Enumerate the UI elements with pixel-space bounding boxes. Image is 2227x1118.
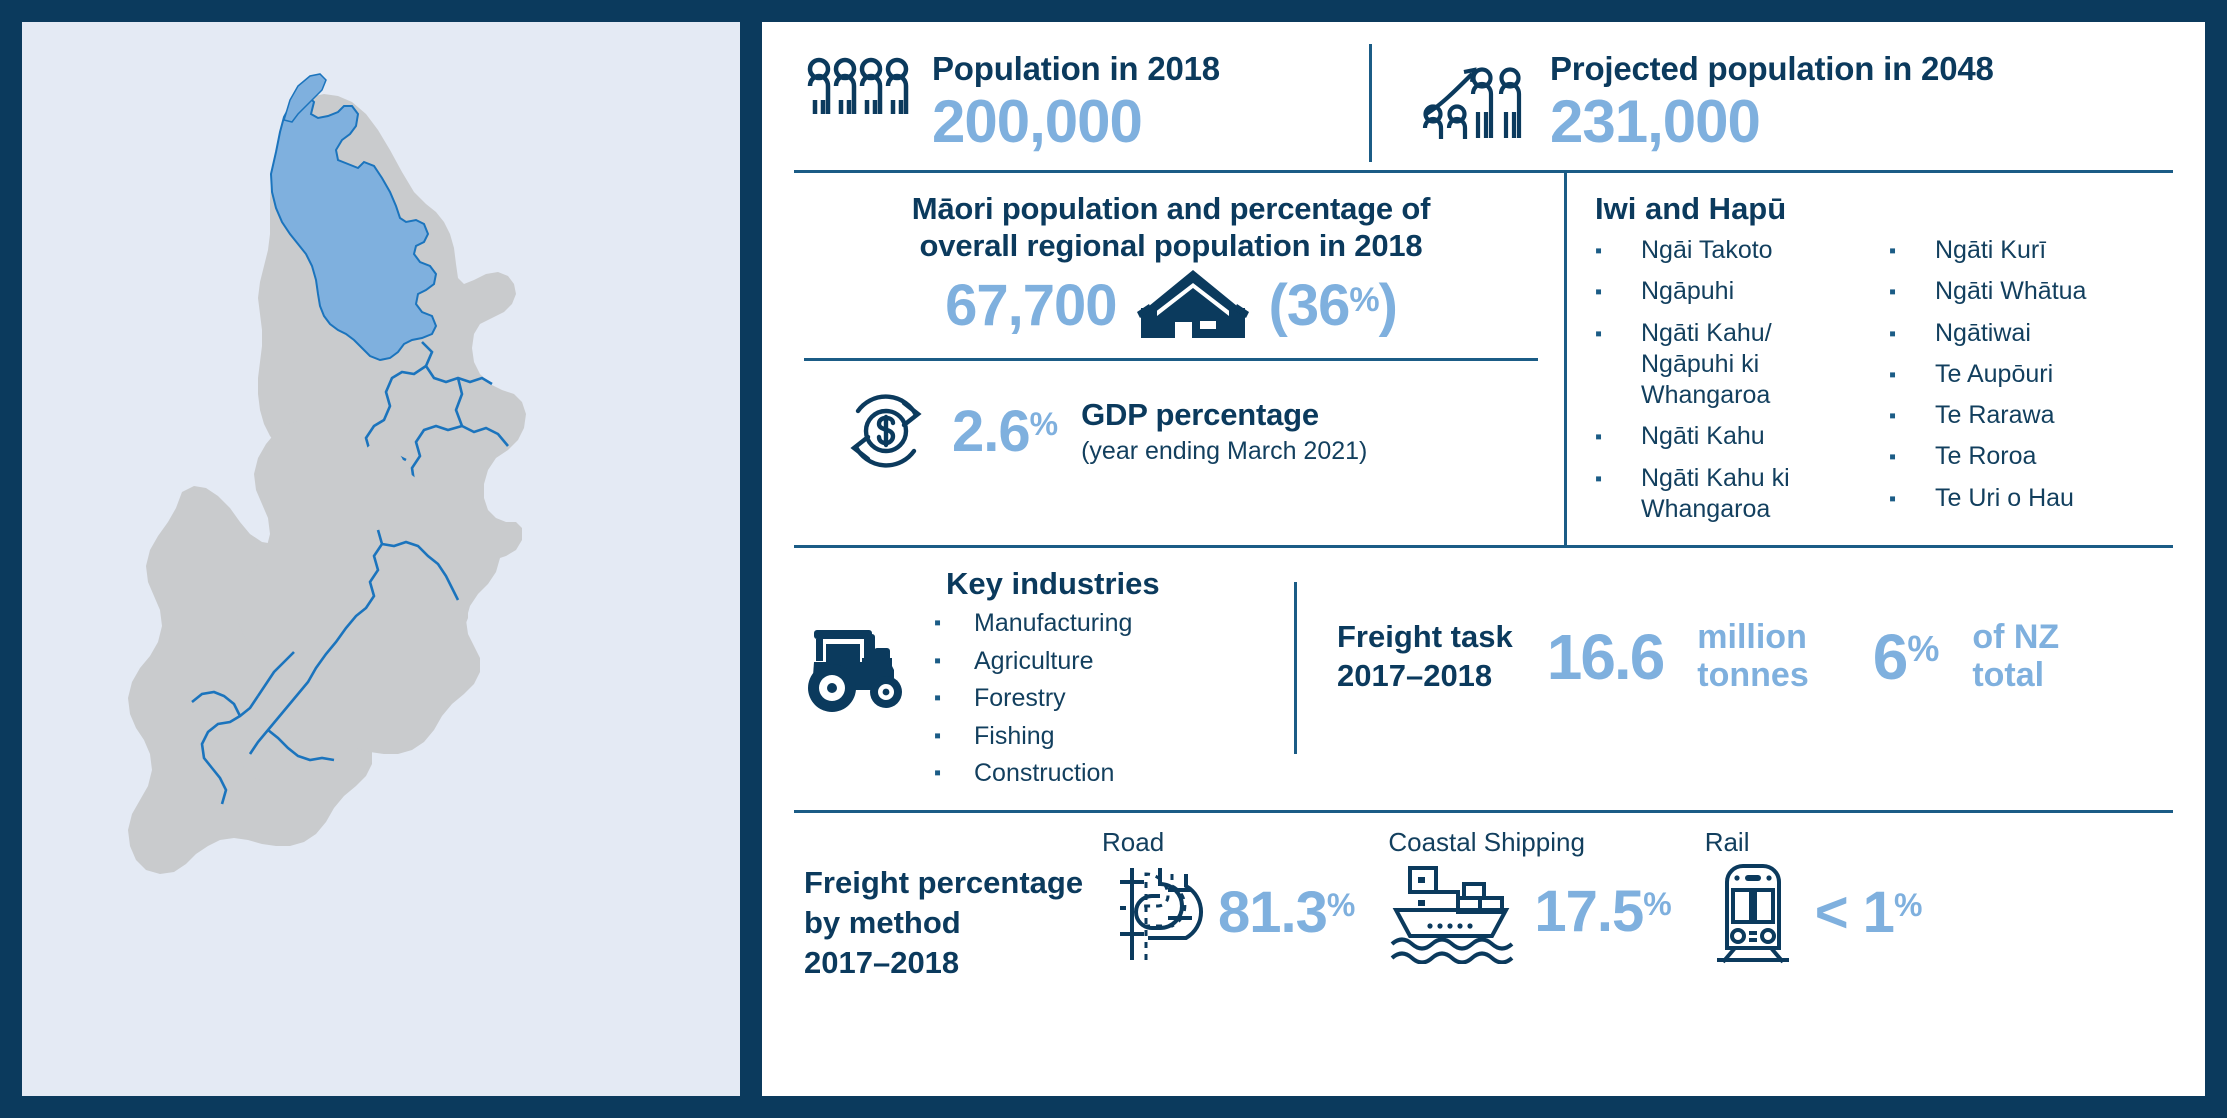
- list-item: ▪Te Aupōuri: [1889, 359, 2173, 390]
- iwi-list-column-2: ▪Ngāti Kurī▪Ngāti Whātua▪Ngātiwai▪Te Aup…: [1889, 235, 2173, 535]
- population-2018-block: Population in 2018 200,000: [794, 44, 1369, 153]
- freight-method-road: Road: [1102, 827, 1354, 966]
- list-item-label: Ngāti Kahu/Ngāpuhi ki Whangaroa: [1641, 318, 1879, 412]
- list-item-label: Agriculture: [974, 646, 1094, 677]
- population-row: Population in 2018 200,000: [794, 38, 2173, 170]
- freight-task-unit: million tonnes: [1697, 619, 1808, 694]
- coastal-shipping-caption: Coastal Shipping: [1388, 827, 1670, 858]
- new-zealand-map-panel: [22, 22, 740, 1096]
- list-item-label: Te Uri o Hau: [1935, 483, 2173, 514]
- freight-task-share-label: of NZ total: [1972, 619, 2059, 694]
- bullet-icon: ▪: [934, 646, 974, 677]
- dollar-cycle-icon: [838, 383, 934, 479]
- new-zealand-region-map: [22, 22, 740, 1096]
- list-item: ▪Manufacturing: [934, 608, 1160, 639]
- list-item-label: Manufacturing: [974, 608, 1132, 639]
- list-item-label: Ngāpuhi: [1641, 276, 1879, 307]
- bullet-icon: ▪: [1595, 276, 1641, 307]
- list-item-label: Forestry: [974, 683, 1066, 714]
- list-item-label: Ngāti Kahu: [1641, 421, 1879, 452]
- list-item-label: Ngāti Whātua: [1935, 276, 2173, 307]
- bullet-icon: ▪: [1889, 359, 1935, 390]
- list-item: ▪Ngāti Kahu: [1595, 421, 1879, 452]
- bullet-icon: ▪: [1595, 235, 1641, 266]
- bullet-icon: ▪: [1889, 483, 1935, 514]
- road-percentage: 81.3%: [1218, 879, 1354, 946]
- list-item-label: Ngāti Kurī: [1935, 235, 2173, 266]
- industries-and-freight-task-row: Key industries ▪Manufacturing▪Agricultur…: [794, 548, 2173, 810]
- population-2018-title: Population in 2018: [932, 50, 1220, 88]
- list-item: ▪Te Uri o Hau: [1889, 483, 2173, 514]
- bullet-icon: ▪: [1889, 318, 1935, 349]
- maori-and-iwi-row: Māori population and percentage of overa…: [794, 173, 2173, 545]
- list-item: ▪Te Rarawa: [1889, 400, 2173, 431]
- bullet-icon: ▪: [1595, 421, 1641, 452]
- freight-method-coastal-shipping: Coastal Shipping: [1388, 827, 1670, 966]
- maori-population-and-gdp-column: Māori population and percentage of overa…: [794, 173, 1564, 545]
- list-item: ▪Ngāti Whātua: [1889, 276, 2173, 307]
- maori-population-figures: 67,700: [804, 268, 1538, 342]
- rail-percentage: < 1%: [1815, 879, 1922, 946]
- list-item: ▪Agriculture: [934, 646, 1160, 677]
- gdp-percentage-block: 2.6% GDP percentage (year ending March 2…: [804, 361, 1538, 485]
- iwi-list-column-1: ▪Ngāi Takoto▪Ngāpuhi▪Ngāti Kahu/Ngāpuhi …: [1595, 235, 1879, 535]
- road-caption: Road: [1102, 827, 1354, 858]
- bullet-icon: ▪: [1889, 276, 1935, 307]
- freight-method-items: Road: [1094, 827, 2173, 966]
- marae-house-icon: [1137, 268, 1249, 342]
- list-item-label: Te Rarawa: [1935, 400, 2173, 431]
- maori-population-title: Māori population and percentage of overa…: [804, 191, 1538, 264]
- list-item-label: Construction: [974, 758, 1114, 789]
- key-industries-title: Key industries: [934, 566, 1160, 602]
- freight-task-share-value: 6%: [1873, 620, 1939, 694]
- maori-population-percentage: (36%): [1269, 272, 1397, 339]
- statistics-panel: Population in 2018 200,000: [762, 22, 2205, 1096]
- list-item: ▪Fishing: [934, 721, 1160, 752]
- four-people-icon: [806, 44, 910, 128]
- list-item-label: Te Roroa: [1935, 441, 2173, 472]
- freight-by-method-row: Freight percentage by method 2017–2018 R…: [794, 813, 2173, 984]
- bullet-icon: ▪: [934, 721, 974, 752]
- road-icon: [1102, 860, 1204, 966]
- infographic-frame: Population in 2018 200,000: [0, 0, 2227, 1118]
- population-growth-people-arrow-icon: [1420, 44, 1528, 140]
- iwi-and-hapu-column: Iwi and Hapū ▪Ngāi Takoto▪Ngāpuhi▪Ngāti …: [1567, 173, 2173, 545]
- bullet-icon: ▪: [1595, 463, 1641, 526]
- list-item-label: Fishing: [974, 721, 1055, 752]
- rail-caption: Rail: [1705, 827, 1922, 858]
- bullet-icon: ▪: [934, 608, 974, 639]
- bullet-icon: ▪: [1889, 400, 1935, 431]
- projected-population-value: 231,000: [1550, 90, 1994, 153]
- list-item-label: Te Aupōuri: [1935, 359, 2173, 390]
- gdp-label: GDP percentage: [1081, 397, 1367, 433]
- bullet-icon: ▪: [1595, 318, 1641, 412]
- bullet-icon: ▪: [934, 758, 974, 789]
- list-item: ▪Ngāpuhi: [1595, 276, 1879, 307]
- list-item: ▪Ngāti Kahu kiWhangaroa: [1595, 463, 1879, 526]
- projected-population-2048-block: Projected population in 2048 231,000: [1372, 44, 1994, 153]
- list-item: ▪Ngāti Kurī: [1889, 235, 2173, 266]
- maori-population-value: 67,700: [945, 272, 1116, 339]
- freight-task-value: 16.6: [1547, 620, 1664, 694]
- population-2018-value: 200,000: [932, 90, 1220, 153]
- list-item-label: Ngātiwai: [1935, 318, 2173, 349]
- iwi-and-hapu-title: Iwi and Hapū: [1595, 191, 2173, 227]
- gdp-sublabel: (year ending March 2021): [1081, 437, 1367, 466]
- bullet-icon: ▪: [934, 683, 974, 714]
- list-item: ▪Ngātiwai: [1889, 318, 2173, 349]
- train-icon: [1705, 860, 1801, 966]
- coastal-shipping-percentage: 17.5%: [1534, 878, 1670, 945]
- freight-method-rail: Rail: [1705, 827, 1922, 966]
- key-industries-list: ▪Manufacturing▪Agriculture▪Forestry▪Fish…: [934, 608, 1160, 789]
- key-industries-block: Key industries ▪Manufacturing▪Agricultur…: [794, 566, 1294, 796]
- projected-population-title: Projected population in 2048: [1550, 50, 1994, 88]
- freight-task-label: Freight task 2017–2018: [1337, 618, 1513, 696]
- list-item: ▪Forestry: [934, 683, 1160, 714]
- freight-task-block: Freight task 2017–2018 16.6 million tonn…: [1297, 566, 2173, 696]
- gdp-percentage-value: 2.6%: [952, 398, 1057, 465]
- list-item: ▪Te Roroa: [1889, 441, 2173, 472]
- tractor-icon: [804, 566, 924, 714]
- list-item: ▪Ngāti Kahu/Ngāpuhi ki Whangaroa: [1595, 318, 1879, 412]
- list-item-label: Ngāti Kahu kiWhangaroa: [1641, 463, 1879, 526]
- bullet-icon: ▪: [1889, 235, 1935, 266]
- list-item: ▪Ngāi Takoto: [1595, 235, 1879, 266]
- freight-by-method-label: Freight percentage by method 2017–2018: [794, 827, 1094, 984]
- list-item-label: Ngāi Takoto: [1641, 235, 1879, 266]
- cargo-ship-icon: [1388, 860, 1520, 964]
- bullet-icon: ▪: [1889, 441, 1935, 472]
- list-item: ▪Construction: [934, 758, 1160, 789]
